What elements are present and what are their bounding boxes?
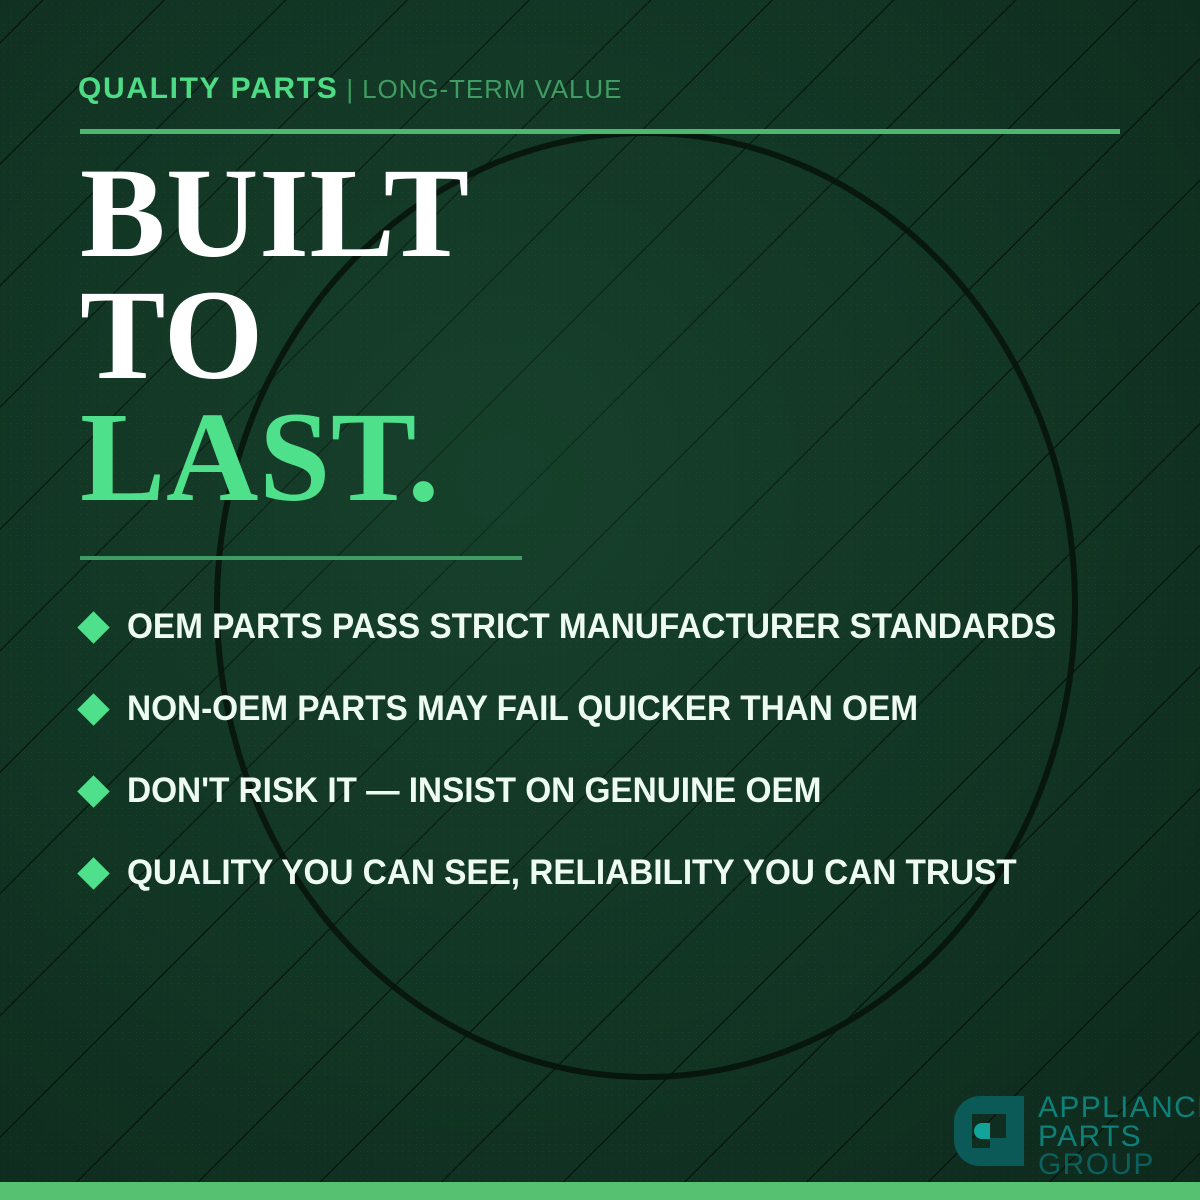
poster-content: QUALITY PARTS| LONG-TERM VALUE BUILT TO … (0, 0, 1200, 1200)
headline-line-1: BUILT (80, 152, 470, 274)
list-item-label: NON-OEM PARTS MAY FAIL QUICKER THAN OEM (127, 689, 918, 729)
list-item: NON-OEM PARTS MAY FAIL QUICKER THAN OEM (80, 668, 1150, 750)
list-item-label: OEM PARTS PASS STRICT MANUFACTURER STAND… (127, 607, 1056, 647)
list-item: QUALITY YOU CAN SEE, RELIABILITY YOU CAN… (80, 832, 1150, 914)
brand-word-line-3: GROUP (1038, 1151, 1200, 1180)
poster-canvas: QUALITY PARTS| LONG-TERM VALUE BUILT TO … (0, 0, 1200, 1200)
appliance-parts-group-g-icon (950, 1092, 1028, 1170)
eyebrow-subtitle: | LONG-TERM VALUE (346, 74, 622, 104)
list-item-label: QUALITY YOU CAN SEE, RELIABILITY YOU CAN… (127, 853, 1017, 893)
list-item: DON'T RISK IT — INSIST ON GENUINE OEM (80, 750, 1150, 832)
diamond-icon (77, 857, 110, 890)
diamond-icon (77, 693, 110, 726)
headline-divider-rule (80, 556, 522, 560)
eyebrow-kicker: QUALITY PARTS (78, 72, 338, 105)
brand-logo: APPLIANCE PARTS GROUP (950, 1092, 1200, 1180)
page-title: BUILT TO LAST. (80, 152, 470, 519)
brand-wordmark: APPLIANCE PARTS GROUP (1038, 1092, 1200, 1180)
diamond-icon (77, 611, 110, 644)
headline-line-2: TO (80, 274, 470, 396)
diamond-icon (77, 775, 110, 808)
headline-line-3: LAST. (80, 396, 470, 518)
brand-word-line-2: PARTS (1038, 1123, 1200, 1152)
bottom-accent-bar (0, 1182, 1200, 1200)
list-item: OEM PARTS PASS STRICT MANUFACTURER STAND… (80, 586, 1150, 668)
list-item-label: DON'T RISK IT — INSIST ON GENUINE OEM (127, 771, 821, 811)
benefits-list: OEM PARTS PASS STRICT MANUFACTURER STAND… (80, 586, 1150, 914)
header-divider-rule (80, 129, 1120, 134)
eyebrow: QUALITY PARTS| LONG-TERM VALUE (78, 74, 622, 104)
brand-word-line-1: APPLIANCE (1038, 1094, 1200, 1123)
